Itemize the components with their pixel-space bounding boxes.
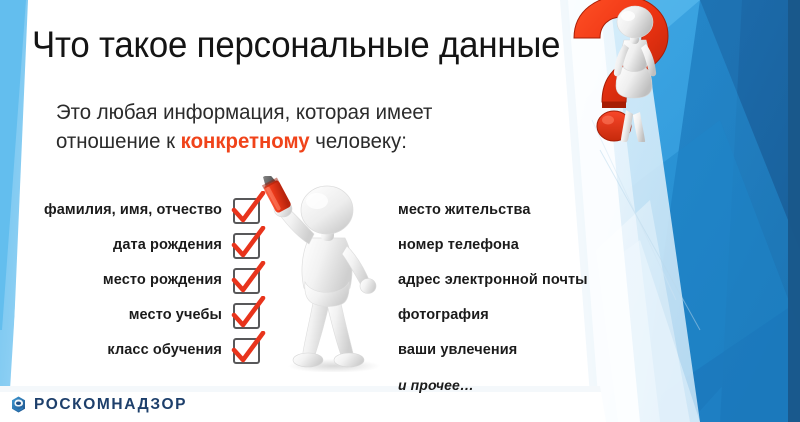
checkbox-column [231,192,265,367]
list-item-label: номер телефона [398,237,519,253]
mannequin-svg [246,176,416,372]
red-checkmark-icon [230,226,266,262]
checkbox-item[interactable] [231,227,265,262]
roskomnadzor-wordmark: РОСКОМНАДЗОР [34,396,187,413]
roskomnadzor-hexagon-icon [10,396,27,413]
list-item: фотография [398,297,628,332]
checkbox-item[interactable] [231,297,265,332]
list-item: адрес электронной почты [398,262,628,297]
list-item: место рождения [24,262,222,297]
right-attribute-list: место жительства номер телефона адрес эл… [398,192,628,402]
subtitle-text-after: человеку: [310,130,407,153]
list-item-label: и прочее… [398,377,474,393]
list-item: ваши увлечения [398,332,628,367]
list-item-label: ваши увлечения [398,342,517,358]
red-checkmark-icon [230,331,266,367]
subtitle-accent-word: конкретному [181,130,310,153]
list-item-label: класс обучения [107,342,222,358]
list-item-etc: и прочее… [398,367,628,402]
page-title: Что такое персональные данные [32,22,560,68]
3d-mannequin-figure-icon [246,176,416,372]
red-checkmark-icon [230,191,266,227]
subtitle: Это любая информация, которая имеет отно… [56,98,512,156]
list-item-label: фамилия, имя, отчество [44,202,222,218]
list-item-label: дата рождения [113,237,222,253]
roskomnadzor-logo: РОСКОМНАДЗОР [10,396,187,413]
checkbox-item[interactable] [231,262,265,297]
list-item-label: место учебы [129,307,222,323]
list-item-label: адрес электронной почты [398,272,588,288]
list-item-label: фотография [398,307,489,323]
red-question-mark-icon [558,0,688,142]
list-item: класс обучения [24,332,222,367]
list-item-label: место жительства [398,202,531,218]
list-item: место учебы [24,297,222,332]
list-item: фамилия, имя, отчество [24,192,222,227]
checkbox-item[interactable] [231,192,265,227]
red-checkmark-icon [230,261,266,297]
red-checkmark-icon [230,296,266,332]
left-attribute-list: фамилия, имя, отчество дата рождения мес… [24,192,222,367]
list-item: дата рождения [24,227,222,262]
list-item-label: место рождения [103,272,222,288]
checkbox-item[interactable] [231,332,265,367]
list-item: место жительства [398,192,628,227]
question-mark-svg [558,0,688,142]
slide-canvas: Что такое персональные данные Это любая … [0,0,800,422]
list-item: номер телефона [398,227,628,262]
